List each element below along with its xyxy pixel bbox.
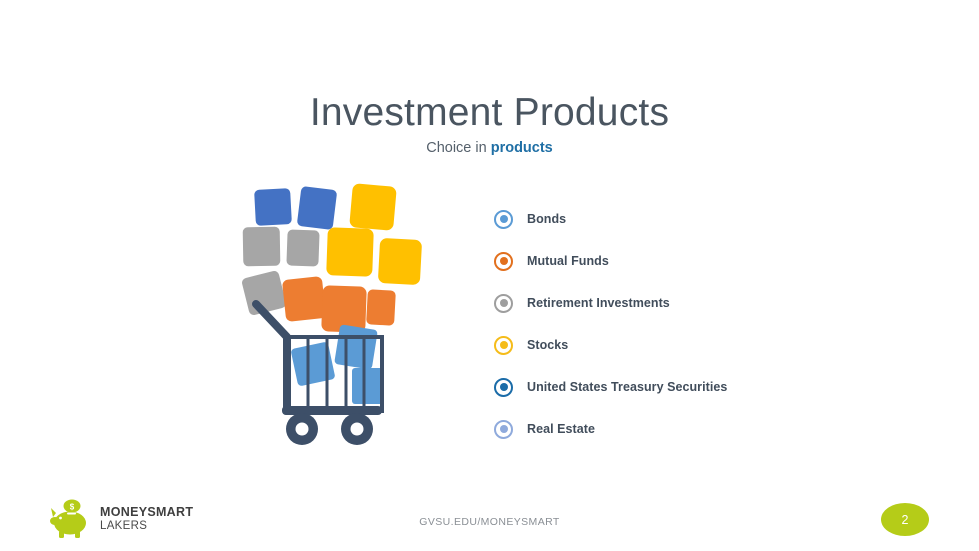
list-item[interactable]: Mutual Funds [494,240,934,282]
cart-wheel-right-hub [351,423,364,436]
block-lightblue-1 [290,341,335,386]
list-item-label: Stocks [527,338,568,352]
list-item-label: Mutual Funds [527,254,609,268]
list-item-label: Retirement Investments [527,296,670,310]
radio-filled-icon [494,336,513,355]
block-gray-2 [286,229,319,266]
block-gold-3 [378,238,422,285]
cart-axle [282,406,382,415]
shopping-cart-with-blocks-illustration [232,182,442,447]
radio-filled-icon [494,378,513,397]
footer-url: GVSU.EDU/MONEYSMART [0,516,979,528]
block-orange-3 [366,289,396,325]
block-gold-2 [326,227,374,277]
piggy-leg-left [59,531,64,538]
subtitle-prefix: Choice in [426,140,490,156]
slide-canvas: Investment Products Choice in products [0,0,979,551]
piggy-coin-slot [67,513,76,515]
block-blue-2 [297,186,338,230]
piggy-leg-right [75,531,80,538]
block-lightblue-3 [352,368,384,404]
page-number-label: 2 [902,513,909,527]
list-item-label: United States Treasury Securities [527,380,727,394]
page-title: Investment Products [0,92,979,134]
list-item[interactable]: Real Estate [494,408,934,450]
list-item-label: Bonds [527,212,566,226]
block-blue-1 [254,188,292,226]
list-item[interactable]: Bonds [494,198,934,240]
block-gray-1 [243,227,281,267]
title-block: Investment Products Choice in products [0,92,979,156]
radio-filled-icon [494,420,513,439]
radio-filled-icon [494,252,513,271]
list-item-label: Real Estate [527,422,595,436]
page-number-badge: 2 [881,503,929,536]
cart-wheel-left-hub [296,423,309,436]
coin-dollar-glyph: $ [70,503,75,512]
page-subtitle: Choice in products [0,140,979,156]
radio-filled-icon [494,294,513,313]
block-gold-1 [349,183,397,231]
radio-filled-icon [494,210,513,229]
block-orange-1 [282,276,326,322]
subtitle-accent: products [491,140,553,156]
block-lightblue-2 [334,324,378,369]
investment-products-list: Bonds Mutual Funds Retirement Investment… [494,198,934,450]
list-item[interactable]: Stocks [494,324,934,366]
list-item[interactable]: United States Treasury Securities [494,366,934,408]
list-item[interactable]: Retirement Investments [494,282,934,324]
